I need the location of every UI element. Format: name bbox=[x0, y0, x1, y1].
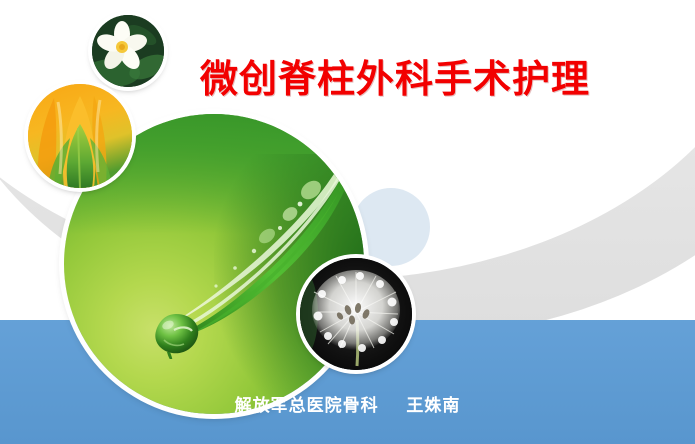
dandelion-seedhead-icon bbox=[300, 258, 412, 370]
dandelion-photo bbox=[300, 258, 412, 370]
plumeria-flower-photo bbox=[92, 15, 164, 87]
tulip-flower-icon bbox=[28, 84, 132, 188]
tulip-photo bbox=[28, 84, 132, 188]
slide-subtitle: 解放军总医院骨科 王姝南 bbox=[0, 391, 695, 416]
plumeria-flower-icon bbox=[92, 15, 164, 87]
presentation-slide: 微创脊柱外科手术护理 解放军总医院骨科 王姝南 bbox=[0, 0, 695, 444]
slide-title: 微创脊柱外科手术护理 bbox=[200, 48, 590, 103]
